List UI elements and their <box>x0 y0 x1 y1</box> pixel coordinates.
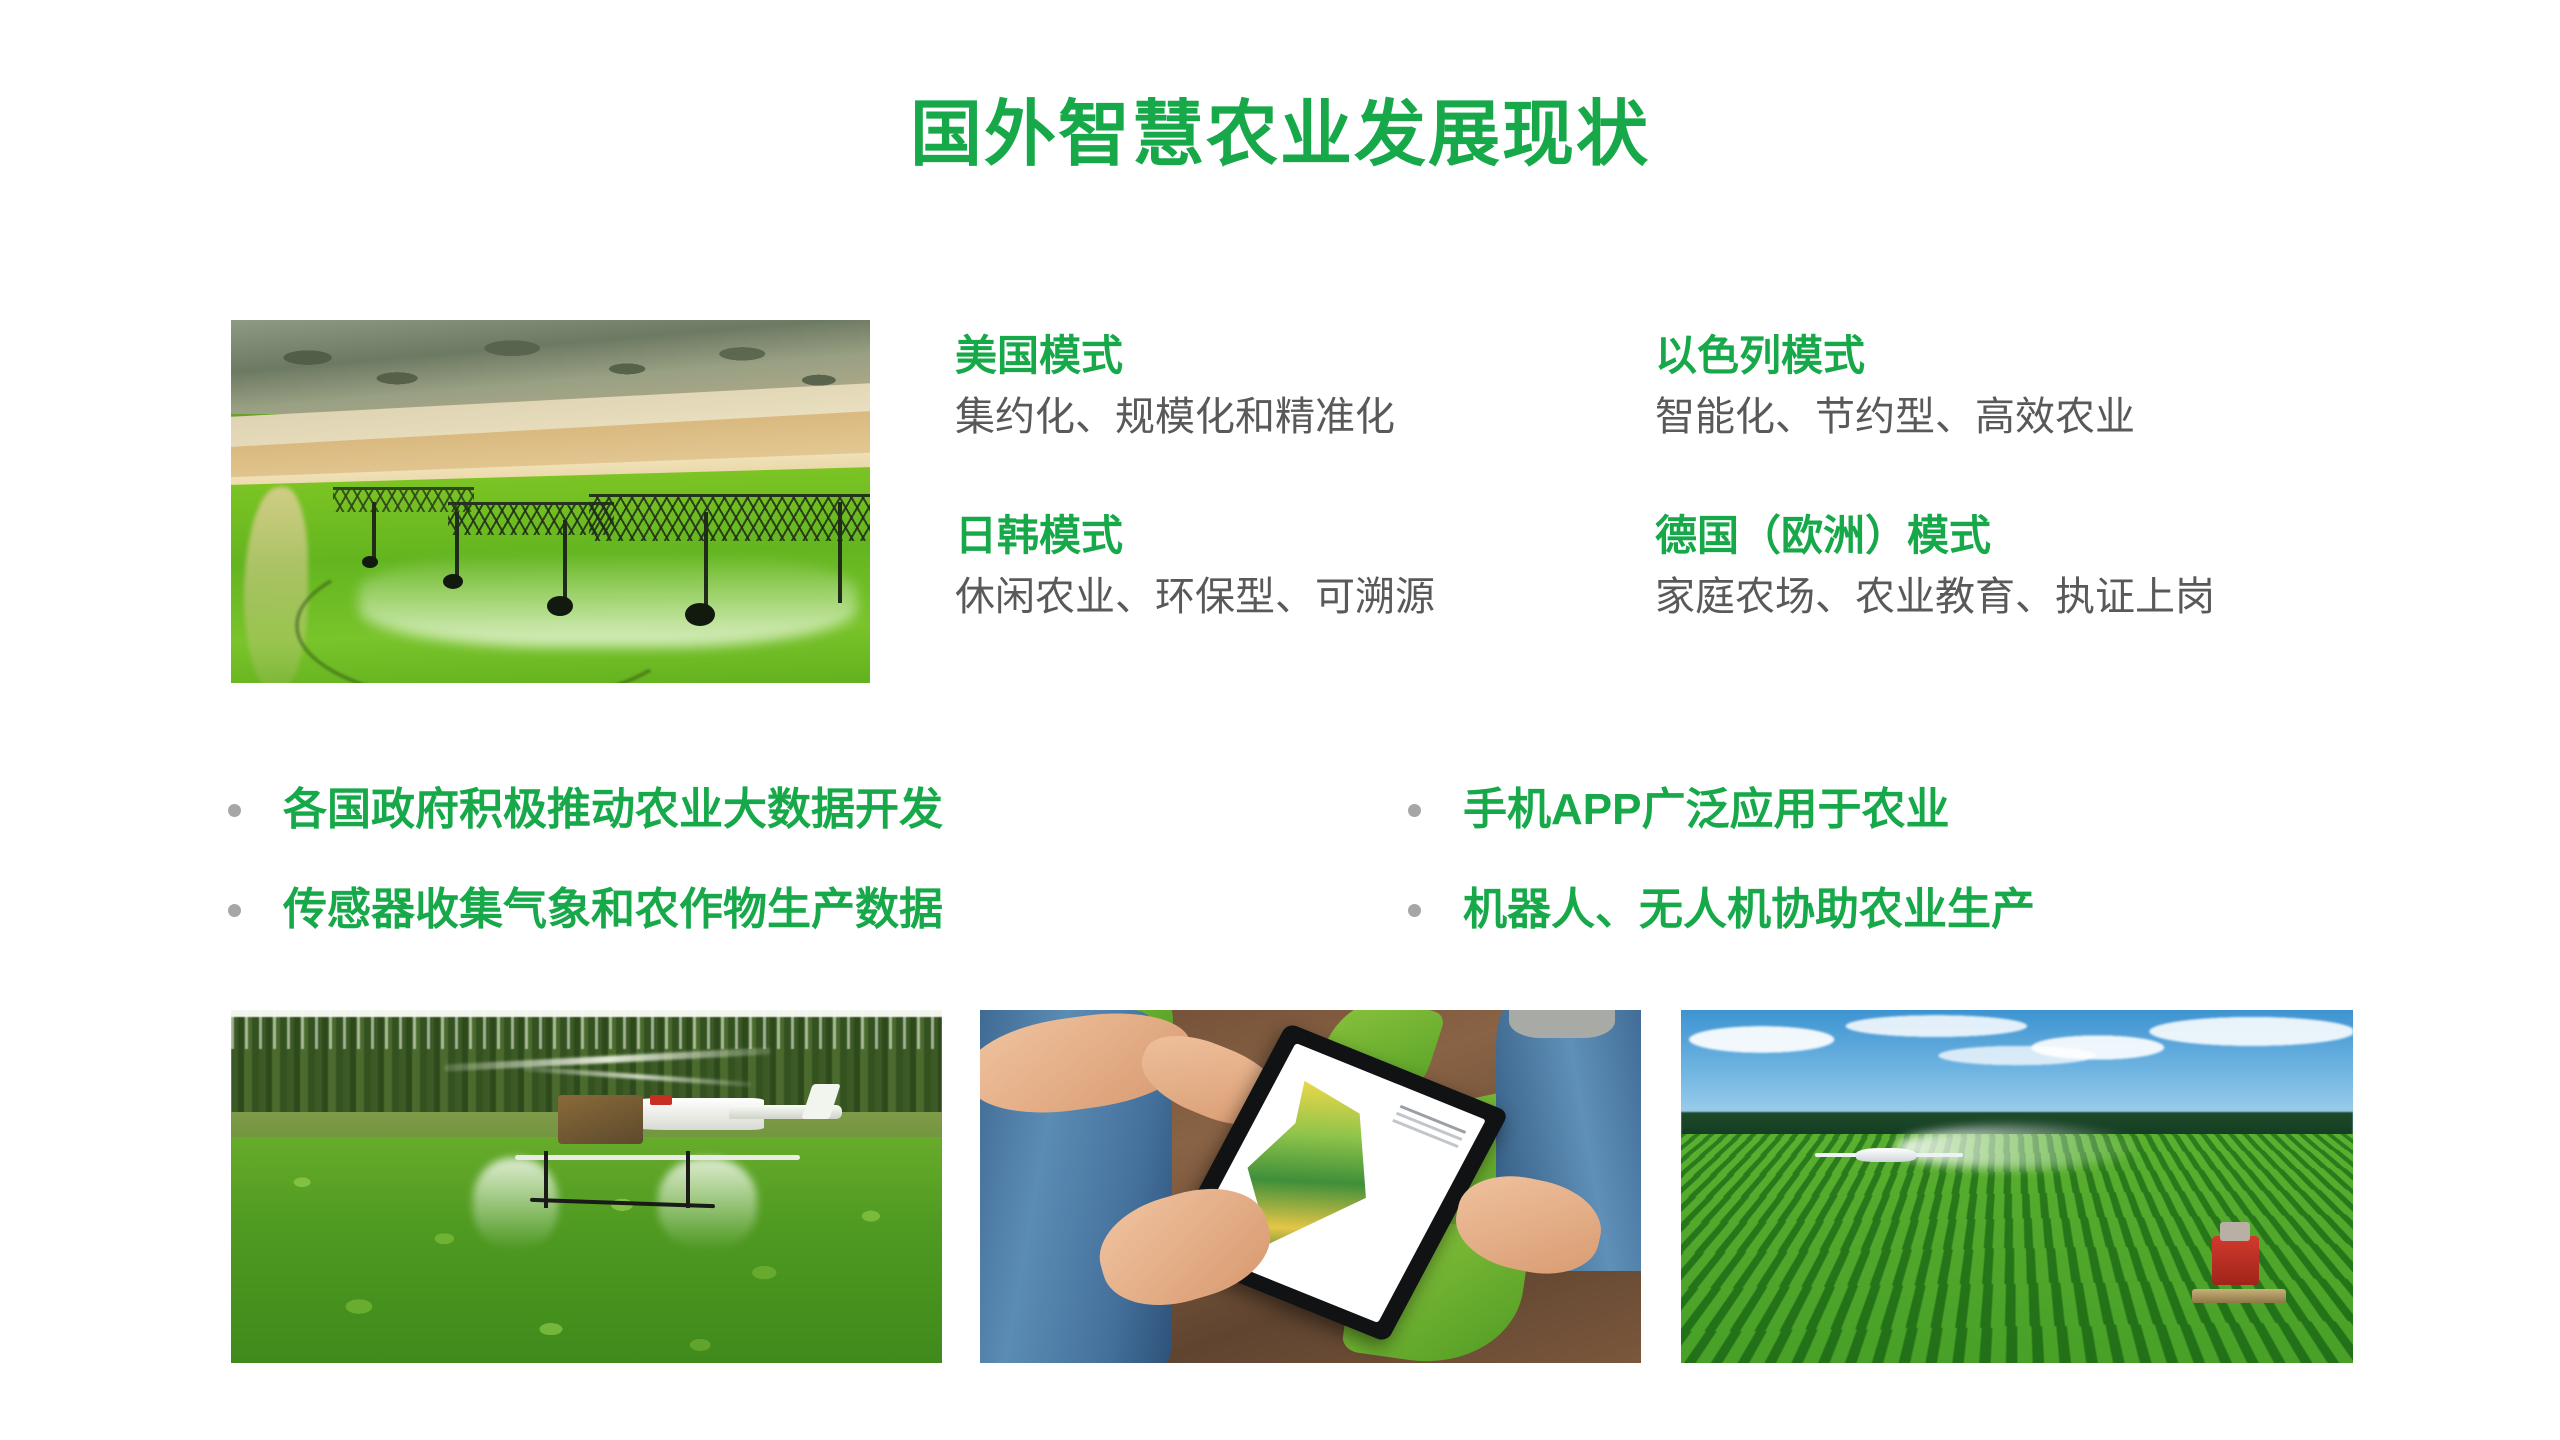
bullet-dot-icon <box>228 904 241 917</box>
red-fuel-cap <box>650 1095 671 1106</box>
bullet-label: 各国政府积极推动农业大数据开发 <box>283 784 943 837</box>
pivot-tower-2 <box>455 512 459 577</box>
tractor-implement <box>2192 1289 2286 1303</box>
bullet-dot-icon <box>228 804 241 817</box>
bullet-dot-icon <box>1408 804 1421 817</box>
list-item: 传感器收集气象和农作物生产数据 <box>228 860 1408 960</box>
pivot-tower-5 <box>838 502 842 604</box>
bullet-label: 手机APP广泛应用于农业 <box>1463 784 1949 837</box>
crop-duster-scene <box>1681 1010 2353 1363</box>
bullet-grid: 各国政府积极推动农业大数据开发 手机APP广泛应用于农业 传感器收集气象和农作物… <box>228 760 2408 960</box>
right-person-shirt <box>1509 1010 1615 1038</box>
list-item: 手机APP广泛应用于农业 <box>1408 760 2408 860</box>
page-title: 国外智慧农业发展现状 <box>0 96 2560 175</box>
engine-block <box>558 1095 643 1144</box>
photo-strip <box>231 1010 2353 1363</box>
model-block-usa: 美国模式 集约化、规模化和精准化 <box>955 330 1655 510</box>
water-spray-mist <box>359 552 857 646</box>
model-heading: 日韩模式 <box>955 510 1645 563</box>
list-item: 机器人、无人机协助农业生产 <box>1408 860 2408 960</box>
bullet-label: 传感器收集气象和农作物生产数据 <box>283 884 943 937</box>
pivot-tower-3 <box>563 520 567 600</box>
pivot-truss-near <box>589 494 870 541</box>
model-heading: 美国模式 <box>955 330 1645 383</box>
bullet-label: 机器人、无人机协助农业生产 <box>1463 884 2035 937</box>
pivot-tower-4 <box>704 512 708 606</box>
airplane-fuselage <box>1856 1148 1916 1162</box>
crop-duster-airplane-photo <box>1681 1010 2353 1363</box>
model-description: 休闲农业、环保型、可溯源 <box>955 571 1645 623</box>
model-description: 集约化、规模化和精准化 <box>955 391 1645 443</box>
spray-helicopter-drone-photo <box>231 1010 942 1363</box>
tractor-cab <box>2220 1222 2250 1241</box>
model-description: 家庭农场、农业教育、执证上岗 <box>1655 571 2425 623</box>
map-legend-lines <box>1400 1105 1466 1134</box>
model-block-israel: 以色列模式 智能化、节约型、高效农业 <box>1655 330 2435 510</box>
pivot-wheel-1 <box>362 556 378 568</box>
model-grid: 美国模式 集约化、规模化和精准化 以色列模式 智能化、节约型、高效农业 日韩模式… <box>955 330 2435 690</box>
irrigation-scene <box>231 320 870 683</box>
model-description: 智能化、节约型、高效农业 <box>1655 391 2425 443</box>
center-pivot-irrigation-photo <box>231 320 870 683</box>
spray-boom <box>515 1155 799 1160</box>
helicopter-scene <box>231 1010 942 1363</box>
slide-canvas: 国外智慧农业发展现状 <box>0 0 2560 1440</box>
pivot-wheel-4 <box>685 603 715 626</box>
crop-field-layer <box>231 1137 942 1363</box>
model-block-japan-korea: 日韩模式 休闲农业、环保型、可溯源 <box>955 510 1655 690</box>
bullet-dot-icon <box>1408 904 1421 917</box>
model-heading: 以色列模式 <box>1655 330 2425 383</box>
pivot-tower-1 <box>372 502 376 560</box>
tablet-scene <box>980 1010 1641 1363</box>
list-item: 各国政府积极推动农业大数据开发 <box>228 760 1408 860</box>
model-block-germany-europe: 德国（欧洲）模式 家庭农场、农业教育、执证上岗 <box>1655 510 2435 690</box>
tablet-in-cornfield-photo <box>980 1010 1641 1363</box>
model-heading: 德国（欧洲）模式 <box>1655 510 2425 563</box>
spray-trail <box>1896 1126 2138 1168</box>
pivot-wheel-3 <box>547 596 573 616</box>
landing-leg-right <box>686 1151 690 1207</box>
red-tractor <box>2212 1236 2259 1285</box>
